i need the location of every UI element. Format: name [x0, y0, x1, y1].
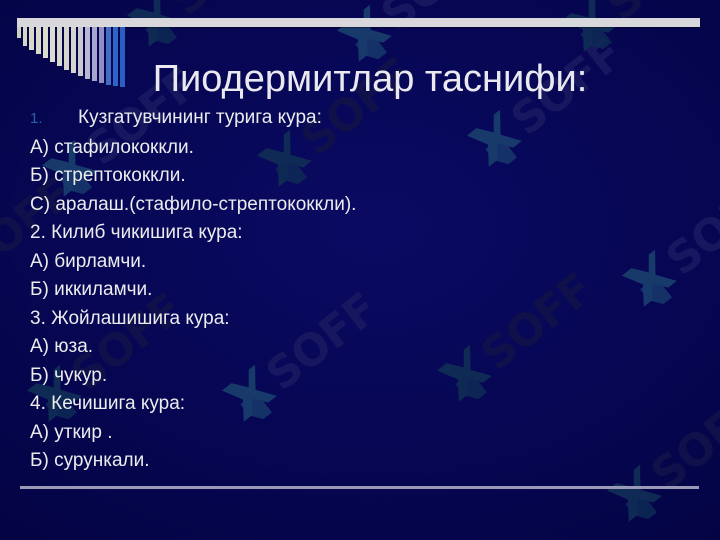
body-line: Б) стрептококкли.	[30, 162, 690, 191]
body-line: С) аралаш.(стафило-стрептококкли).	[30, 191, 690, 220]
body-line: 3. Жойлашишига кура:	[30, 305, 690, 334]
watermark: SOFF	[556, 0, 720, 64]
body-line-text: А) стафилококкли.	[30, 134, 194, 163]
body-line-text: С) аралаш.(стафило-стрептококкли).	[30, 191, 356, 220]
body-line: А) бирламчи.	[30, 248, 690, 277]
slide-title: Пиодермитлар таснифи:	[60, 57, 680, 101]
body-line: А) юза.	[30, 333, 690, 362]
body-line-text: А) уткир .	[30, 419, 113, 448]
body-line-text: Кузгатувчининг турига кура:	[78, 104, 322, 133]
body-line: А) уткир .	[30, 419, 690, 448]
body-line-text: А) юза.	[30, 333, 93, 362]
body-line: Б) иккиламчи.	[30, 276, 690, 305]
decor-bar	[36, 27, 41, 54]
decor-bar	[50, 27, 55, 62]
body-line: 2. Килиб чикишига кура:	[30, 219, 690, 248]
decor-bar	[17, 27, 21, 38]
body-line-text: Б) стрептококкли.	[30, 162, 186, 191]
decor-bar	[29, 27, 34, 50]
decor-bar	[43, 27, 48, 58]
slide-canvas: SOFFSOFFSOFFSOFFSOFFSOFFSOFFSOFFSOFFSOFF…	[0, 0, 720, 540]
body-line: 4. Кечишига кура:	[30, 390, 690, 419]
body-line-text: А) бирламчи.	[30, 248, 146, 277]
body-line: А) стафилококкли.	[30, 134, 690, 163]
top-accent-bar	[17, 18, 700, 27]
body-line: Б) чукур.	[30, 362, 690, 391]
body-line-text: 3. Жойлашишига кура:	[30, 305, 230, 334]
list-marker: 1.	[30, 105, 78, 134]
double-chevron-logo-icon	[556, 0, 627, 64]
body-line-text: Б) сурункали.	[30, 447, 149, 476]
watermark: SOFF	[121, 0, 294, 59]
body-line-text: 2. Килиб чикишига кура:	[30, 219, 243, 248]
body-line: 1.Кузгатувчининг турига кура:	[30, 104, 690, 134]
decor-bar	[23, 27, 27, 46]
body-line: Б) сурункали.	[30, 447, 690, 476]
body-line-text: Б) чукур.	[30, 362, 107, 391]
slide-body: 1.Кузгатувчининг турига кура:А) стафилок…	[30, 104, 690, 476]
body-line-text: 4. Кечишига кура:	[30, 390, 185, 419]
bottom-rule	[20, 486, 699, 489]
body-line-text: Б) иккиламчи.	[30, 276, 152, 305]
